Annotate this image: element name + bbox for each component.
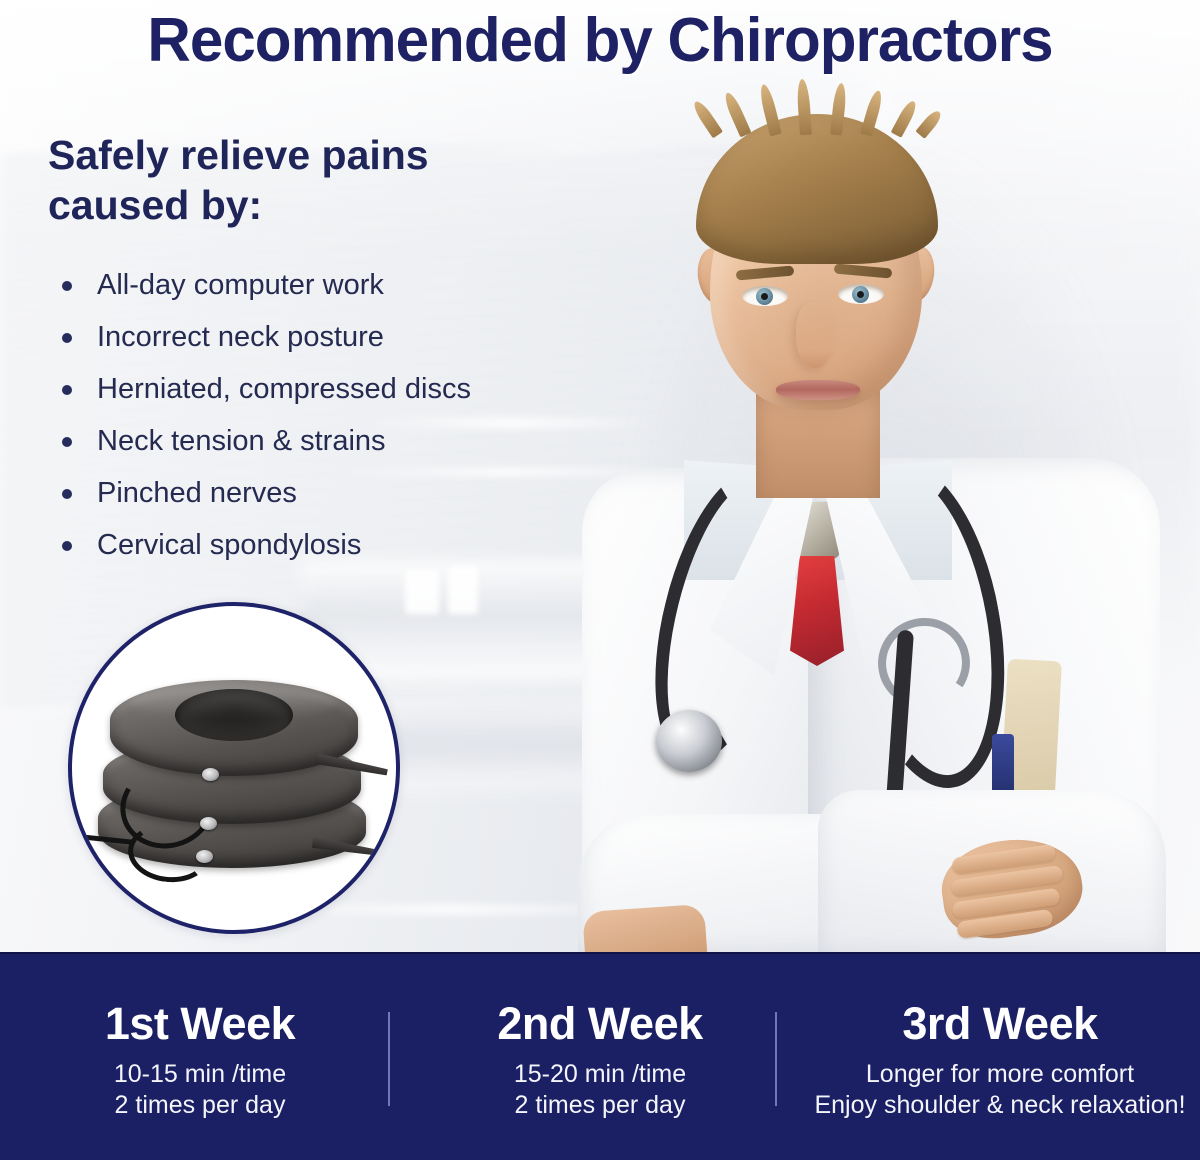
week-duration: 15-20 min /time bbox=[400, 1059, 800, 1090]
list-item-label: Neck tension & strains bbox=[97, 425, 386, 457]
week-frequency: Enjoy shoulder & neck relaxation! bbox=[800, 1090, 1200, 1121]
product-image-circle bbox=[68, 602, 400, 934]
list-item-label: Incorrect neck posture bbox=[97, 321, 384, 353]
doctor-photo bbox=[560, 70, 1200, 960]
metal-grommet bbox=[196, 850, 213, 863]
chin-shading bbox=[756, 398, 880, 432]
list-item-label: Cervical spondylosis bbox=[97, 529, 361, 561]
bullet-dot-icon bbox=[62, 281, 72, 291]
week-title: 3rd Week bbox=[800, 998, 1200, 1050]
week-frequency: 2 times per day bbox=[0, 1090, 400, 1121]
metal-grommet bbox=[202, 768, 219, 781]
iris-left bbox=[756, 288, 773, 305]
schedule-column-week2: 2nd Week 15-20 min /time 2 times per day bbox=[400, 954, 800, 1121]
schedule-column-week1: 1st Week 10-15 min /time 2 times per day bbox=[0, 954, 400, 1121]
list-item: Herniated, compressed discs bbox=[48, 372, 608, 406]
list-item: All-day computer work bbox=[48, 268, 608, 302]
week-frequency: 2 times per day bbox=[400, 1090, 800, 1121]
pain-causes-list: All-day computer work Incorrect neck pos… bbox=[48, 268, 608, 580]
necktie bbox=[790, 556, 844, 666]
bullet-dot-icon bbox=[62, 437, 72, 447]
metal-grommet bbox=[200, 817, 217, 830]
pupil-left bbox=[761, 293, 768, 300]
list-item: Pinched nerves bbox=[48, 476, 608, 510]
bullet-dot-icon bbox=[62, 489, 72, 499]
schedule-column-week3: 3rd Week Longer for more comfort Enjoy s… bbox=[800, 954, 1200, 1121]
list-item-label: Herniated, compressed discs bbox=[97, 373, 471, 405]
eye-right bbox=[838, 284, 884, 304]
page-title: Recommended by Chiropractors bbox=[18, 4, 1182, 78]
list-item: Neck tension & strains bbox=[48, 424, 608, 458]
usage-schedule-banner: 1st Week 10-15 min /time 2 times per day… bbox=[0, 952, 1200, 1160]
list-item: Incorrect neck posture bbox=[48, 320, 608, 354]
product-image bbox=[72, 606, 396, 930]
neck-traction-device bbox=[98, 664, 370, 872]
schedule-divider bbox=[388, 1012, 390, 1106]
eye-left bbox=[742, 286, 788, 306]
list-item-label: All-day computer work bbox=[97, 269, 384, 301]
product-infographic: Recommended by Chiropractors Safely reli… bbox=[0, 0, 1200, 1160]
coat-pocket-pen bbox=[992, 734, 1014, 796]
bullet-dot-icon bbox=[62, 385, 72, 395]
list-item: Cervical spondylosis bbox=[48, 528, 608, 562]
iris-right bbox=[852, 286, 869, 303]
mouth bbox=[776, 380, 860, 400]
list-item-label: Pinched nerves bbox=[97, 477, 297, 509]
hair-spike bbox=[796, 79, 812, 136]
schedule-divider bbox=[775, 1012, 777, 1106]
week-duration: Longer for more comfort bbox=[800, 1059, 1200, 1090]
pupil-right bbox=[857, 291, 864, 298]
week-title: 1st Week bbox=[0, 998, 400, 1050]
stethoscope-chestpiece bbox=[656, 710, 722, 772]
week-duration: 10-15 min /time bbox=[0, 1059, 400, 1090]
subheading: Safely relieve pains caused by: bbox=[48, 130, 568, 230]
week-title: 2nd Week bbox=[400, 998, 800, 1050]
nose bbox=[796, 302, 834, 368]
bullet-dot-icon bbox=[62, 333, 72, 343]
bullet-dot-icon bbox=[62, 541, 72, 551]
